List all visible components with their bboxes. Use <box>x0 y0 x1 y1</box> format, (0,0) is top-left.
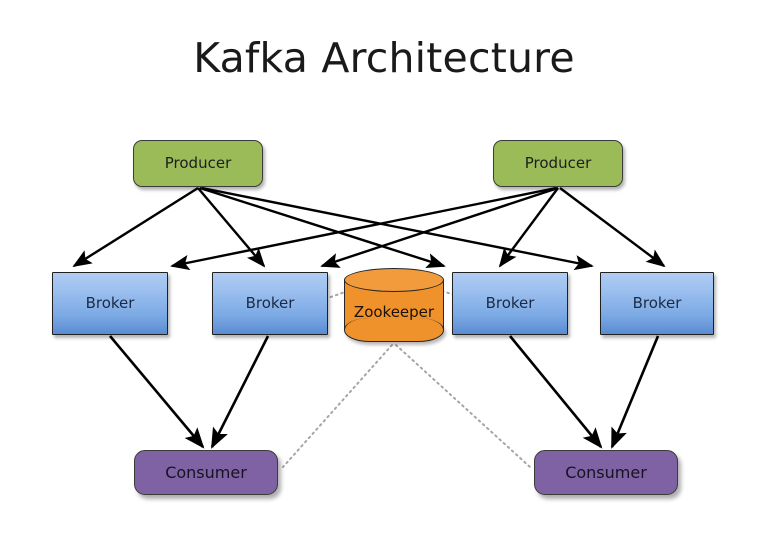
node-label-consumer-1: Consumer <box>165 465 247 481</box>
node-label-producer-1: Producer <box>165 156 231 171</box>
node-label-broker-1: Broker <box>86 296 135 311</box>
node-label-broker-2: Broker <box>246 296 295 311</box>
node-consumer-1[interactable]: Consumer <box>134 450 278 495</box>
node-broker-1[interactable]: Broker <box>52 272 168 335</box>
node-broker-2[interactable]: Broker <box>212 272 328 335</box>
node-label-zookeeper: Zookeeper <box>344 268 444 342</box>
node-label-producer-2: Producer <box>525 156 591 171</box>
node-label-consumer-2: Consumer <box>565 465 647 481</box>
edges-brokers-to-consumers <box>110 336 658 447</box>
edges-producer-2-to-brokers <box>172 188 664 266</box>
node-zookeeper[interactable]: Zookeeper <box>344 268 444 342</box>
edges-producer-1-to-brokers <box>74 188 592 266</box>
node-label-broker-4: Broker <box>633 296 682 311</box>
page-title: Kafka Architecture <box>0 36 768 81</box>
node-broker-3[interactable]: Broker <box>452 272 568 335</box>
node-producer-2[interactable]: Producer <box>493 140 623 187</box>
node-consumer-2[interactable]: Consumer <box>534 450 678 495</box>
node-producer-1[interactable]: Producer <box>133 140 263 187</box>
diagram-canvas: Kafka Architecture <box>0 0 768 554</box>
node-broker-4[interactable]: Broker <box>600 272 714 335</box>
node-label-broker-3: Broker <box>486 296 535 311</box>
